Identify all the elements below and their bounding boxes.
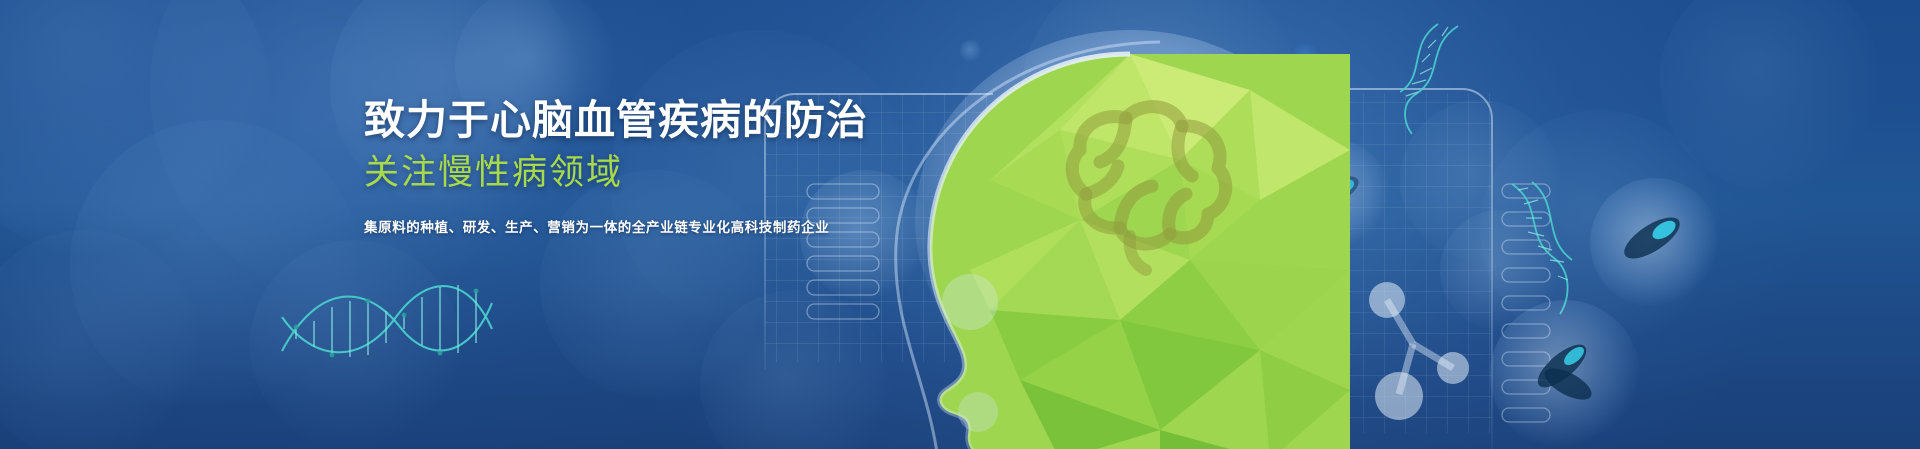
hud-grid-panel-right — [1280, 60, 1580, 449]
brain-stem-icon — [1130, 236, 1146, 270]
bokeh-circle — [1660, 0, 1880, 190]
bokeh-circle — [250, 240, 460, 449]
bokeh-circle — [1400, 100, 1560, 260]
dna-helix-right-icon — [1498, 180, 1588, 320]
cell-speck-icon — [1290, 40, 1324, 74]
banner-copy: 致力于心脑血管疾病的防治 关注慢性病领域 集原料的种植、研发、生产、营销为一体的… — [364, 96, 1124, 238]
hero-banner: 致力于心脑血管疾病的防治 关注慢性病领域 集原料的种植、研发、生产、营销为一体的… — [0, 0, 1920, 449]
bacteria-cell-far-right-icon — [1490, 300, 1640, 449]
bokeh-circle — [0, 0, 270, 260]
page-title: 致力于心脑血管疾病的防治 — [364, 96, 1124, 144]
bokeh-circle — [1480, 110, 1720, 350]
cell-speck-icon — [960, 40, 982, 62]
hud-bar-group — [1502, 184, 1550, 422]
dna-helix-top-right-icon — [1400, 20, 1470, 140]
page-subtitle: 关注慢性病领域 — [364, 152, 1124, 194]
headline-highlight: 心脑血管疾病 — [490, 97, 742, 143]
bacteria-cell-lower-right-icon — [1590, 178, 1720, 308]
bokeh-circle — [70, 120, 360, 410]
headline-prefix: 致力于 — [364, 97, 490, 143]
bokeh-circle — [700, 290, 890, 449]
dna-helix-left-icon — [270, 255, 500, 370]
bokeh-circle — [1440, 210, 1560, 330]
bokeh-circle — [0, 230, 200, 449]
low-poly-human-head-icon — [830, 30, 1350, 449]
headline-suffix: 的防治 — [742, 97, 868, 143]
molecule-nodes-icon — [1355, 270, 1485, 420]
page-tagline: 集原料的种植、研发、生产、营销为一体的全产业链专业化高科技制药企业 — [364, 218, 1124, 238]
bacteria-cell-upper-right-icon — [1280, 140, 1390, 250]
